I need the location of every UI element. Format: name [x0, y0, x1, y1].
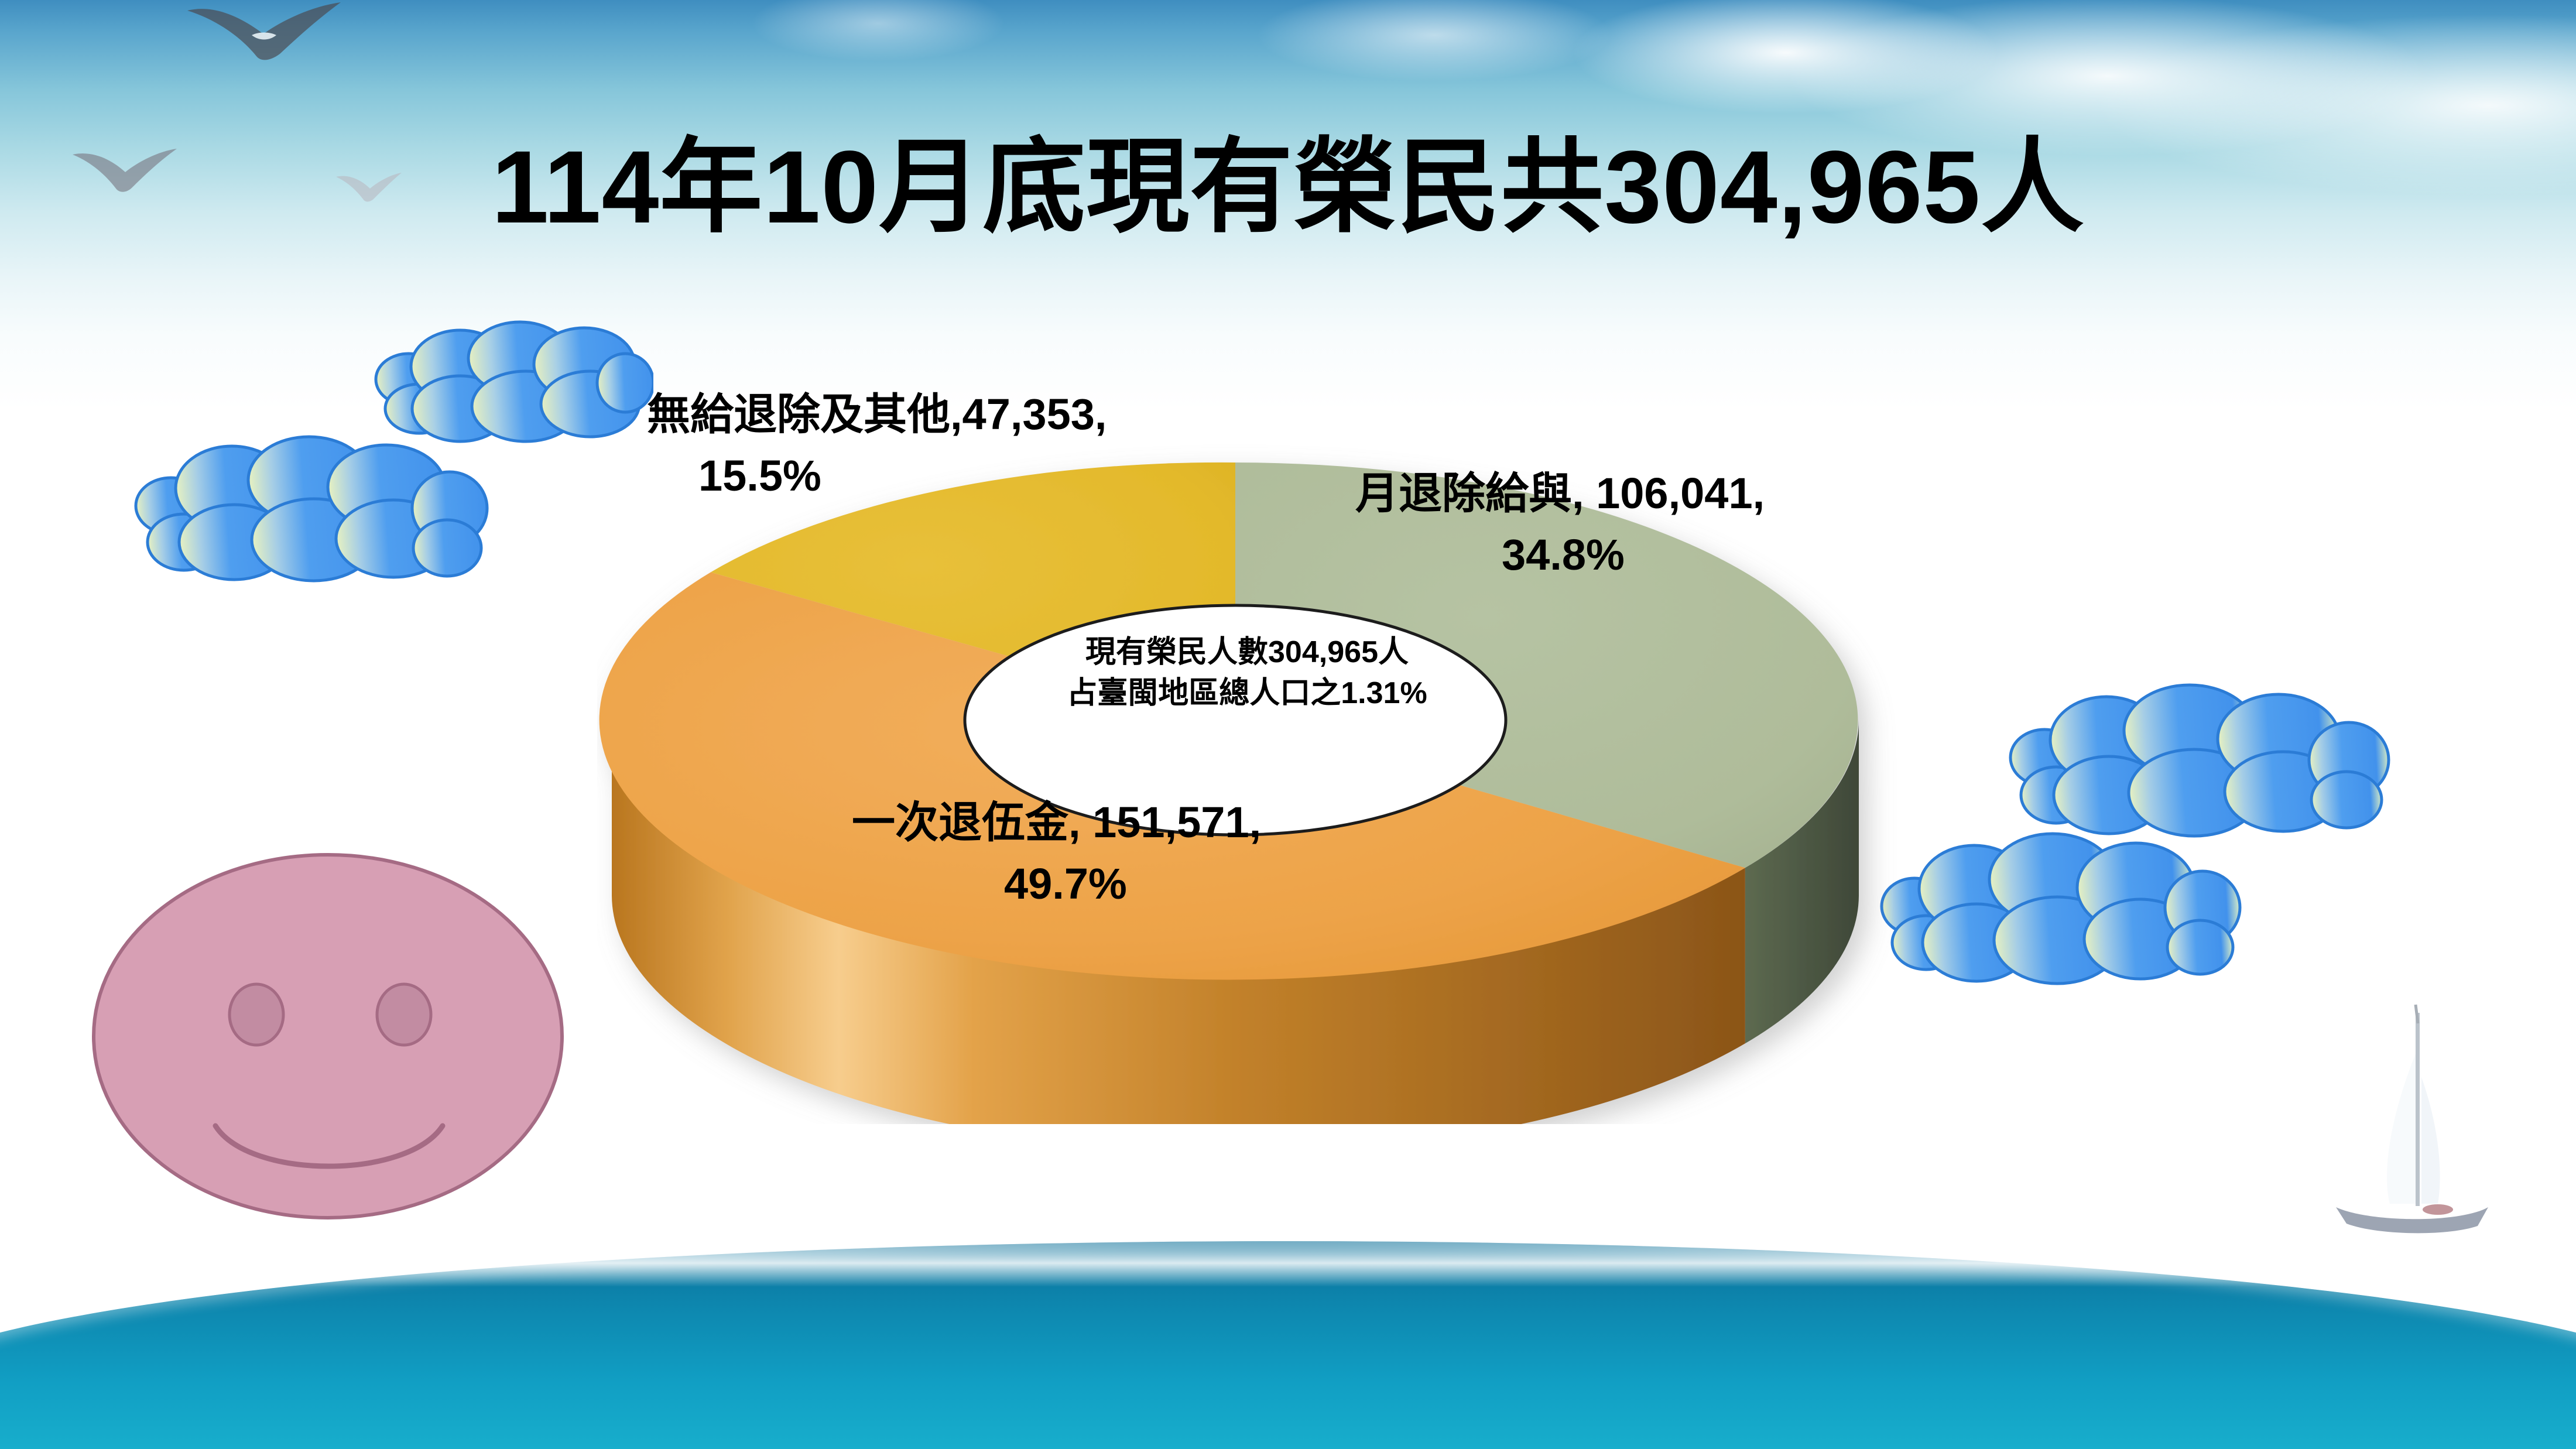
data-label-monthly-line2: 34.8% — [1355, 524, 1765, 585]
sailboat-icon — [2313, 989, 2523, 1294]
seagull-icon — [181, 0, 345, 70]
slide-canvas: 114年10月底現有榮民共304,965人 — [0, 0, 2576, 1449]
data-label-monthly-line1: 月退除給與, 106,041, — [1355, 469, 1765, 518]
smiley-face-icon — [88, 852, 568, 1221]
page-title: 114年10月底現有榮民共304,965人 — [0, 133, 2576, 242]
data-label-other-line2: 15.5% — [647, 445, 1107, 506]
centre-callout-line1: 現有榮民人數304,965人 — [913, 632, 1581, 673]
data-label-other: 無給退除及其他,47,353, 15.5% — [647, 383, 1107, 506]
centre-callout-line2: 占臺閩地區總人口之1.31% — [913, 673, 1581, 714]
data-label-lumpsum: 一次退伍金, 151,571, 49.7% — [852, 792, 1261, 914]
cloud-icon — [133, 423, 496, 587]
centre-callout: 現有榮民人數304,965人 占臺閩地區總人口之1.31% — [913, 632, 1581, 714]
data-label-other-line1: 無給退除及其他,47,353, — [647, 390, 1107, 439]
ocean-background — [0, 1241, 2576, 1449]
data-label-lumpsum-line2: 49.7% — [852, 853, 1261, 914]
data-label-monthly: 月退除給與, 106,041, 34.8% — [1355, 463, 1765, 585]
data-label-lumpsum-line1: 一次退伍金, 151,571, — [852, 798, 1261, 847]
